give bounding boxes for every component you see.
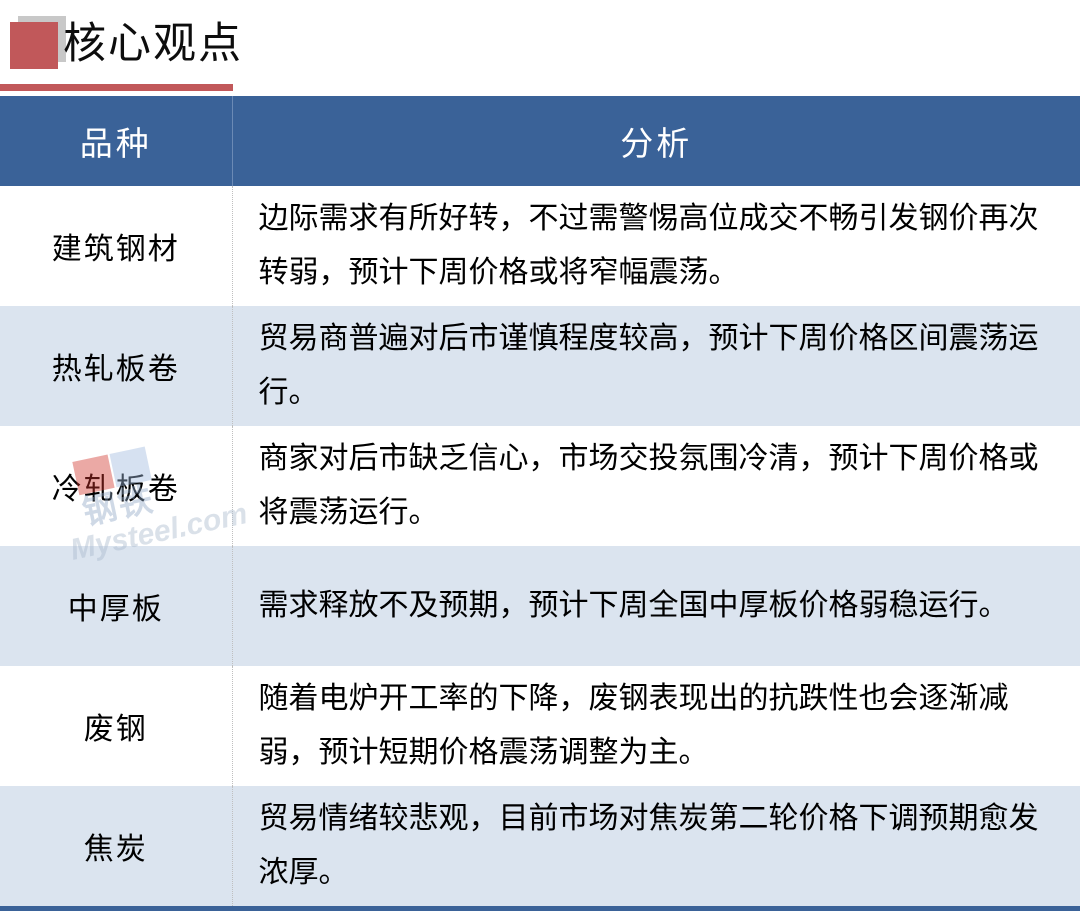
table-body: 建筑钢材 边际需求有所好转，不过需警惕高位成交不畅引发钢价再次转弱，预计下周价格… [0, 186, 1080, 909]
cell-variety: 焦炭 [0, 786, 232, 909]
column-header-variety: 品种 [0, 96, 232, 186]
cell-variety: 废钢 [0, 666, 232, 786]
title-marker-square [10, 22, 58, 69]
core-views-table: 品种 分析 建筑钢材 边际需求有所好转，不过需警惕高位成交不畅引发钢价再次转弱，… [0, 96, 1080, 911]
cell-analysis: 随着电炉开工率的下降，废钢表现出的抗跌性也会逐渐减弱，预计短期价格震荡调整为主。 [232, 666, 1080, 786]
table-header-row: 品种 分析 [0, 96, 1080, 186]
table-row: 冷轧板卷 商家对后市缺乏信心，市场交投氛围冷清，预计下周价格或将震荡运行。 [0, 426, 1080, 546]
cell-variety: 中厚板 [0, 546, 232, 666]
table-row: 中厚板 需求释放不及预期，预计下周全国中厚板价格弱稳运行。 [0, 546, 1080, 666]
cell-analysis: 贸易商普遍对后市谨慎程度较高，预计下周价格区间震荡运行。 [232, 306, 1080, 426]
cell-analysis: 商家对后市缺乏信心，市场交投氛围冷清，预计下周价格或将震荡运行。 [232, 426, 1080, 546]
table-row: 焦炭 贸易情绪较悲观，目前市场对焦炭第二轮价格下调预期愈发浓厚。 [0, 786, 1080, 909]
title-marker-icon [10, 22, 62, 72]
page-header: 核心观点 [0, 0, 1080, 96]
cell-variety: 冷轧板卷 [0, 426, 232, 546]
cell-analysis: 边际需求有所好转，不过需警惕高位成交不畅引发钢价再次转弱，预计下周价格或将窄幅震… [232, 186, 1080, 306]
cell-variety: 建筑钢材 [0, 186, 232, 306]
cell-analysis: 需求释放不及预期，预计下周全国中厚板价格弱稳运行。 [232, 546, 1080, 666]
table-row: 废钢 随着电炉开工率的下降，废钢表现出的抗跌性也会逐渐减弱，预计短期价格震荡调整… [0, 666, 1080, 786]
cell-analysis: 贸易情绪较悲观，目前市场对焦炭第二轮价格下调预期愈发浓厚。 [232, 786, 1080, 909]
table-header: 品种 分析 [0, 96, 1080, 186]
cell-variety: 热轧板卷 [0, 306, 232, 426]
table-row: 建筑钢材 边际需求有所好转，不过需警惕高位成交不畅引发钢价再次转弱，预计下周价格… [0, 186, 1080, 306]
page-title: 核心观点 [63, 14, 243, 74]
title-underline-rule [0, 84, 233, 91]
table-row: 热轧板卷 贸易商普遍对后市谨慎程度较高，预计下周价格区间震荡运行。 [0, 306, 1080, 426]
column-header-analysis: 分析 [232, 96, 1080, 186]
